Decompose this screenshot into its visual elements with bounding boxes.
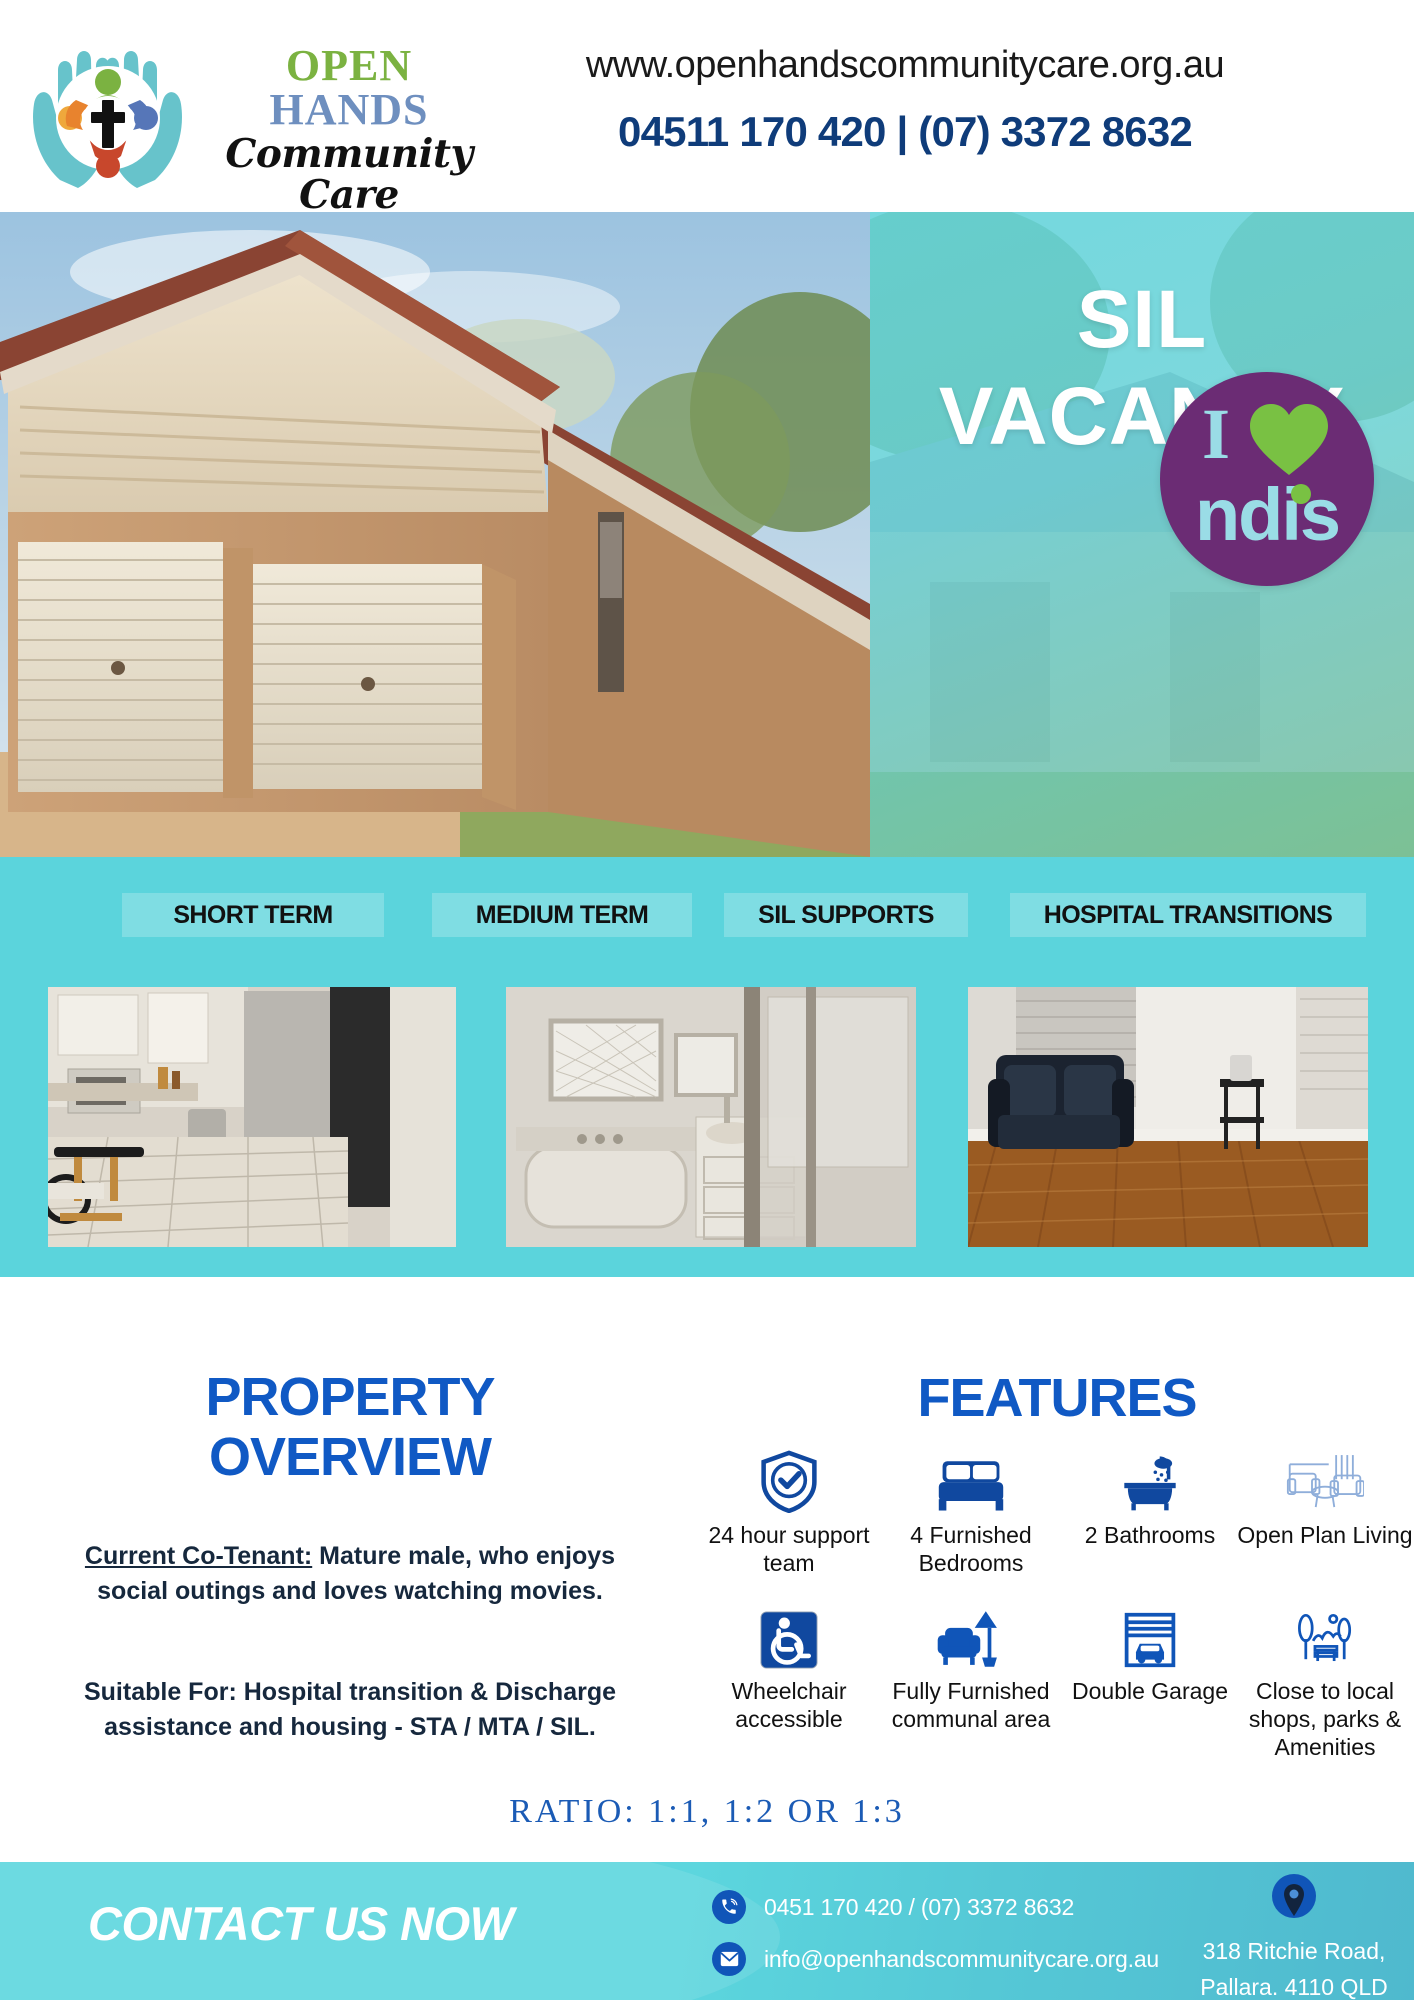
feature-close-to-amenities: Close to local shops, parks & Amenities [1236, 1603, 1414, 1761]
hero-section: SIL VACANCY Calamvale I ndis [0, 212, 1414, 857]
category-sil-supports: SIL SUPPORTS [724, 893, 968, 937]
hero-title-line1: SIL [870, 272, 1414, 369]
envelope-icon [712, 1942, 746, 1976]
armchair-lamp-icon [934, 1603, 1008, 1669]
ndis-letter-i: I [1202, 398, 1230, 470]
property-overview-title: PROPERTY OVERVIEW [70, 1367, 630, 1488]
park-bench-icon [1293, 1603, 1357, 1669]
location-pin-icon [1270, 1874, 1318, 1932]
brand-open-hands: OPEN HANDS [204, 44, 494, 132]
brand-logo: OPEN HANDS Community Care Life Abundantl… [14, 12, 494, 202]
header-website: www.openhandscommunitycare.org.au [500, 44, 1310, 87]
feature-label: Double Garage [1072, 1677, 1228, 1705]
feature-open-plan-living: Open Plan Living [1236, 1447, 1414, 1577]
co-tenant-paragraph: Current Co-Tenant: Mature male, who enjo… [70, 1539, 630, 1608]
open-hands-logo-icon [20, 30, 195, 190]
house-exterior-photo [0, 212, 870, 857]
brand-wordmark: OPEN HANDS Community Care Life Abundantl… [204, 44, 494, 236]
footer-address-line1: 318 Ritchie Road, [1184, 1934, 1404, 1970]
feature-label: Open Plan Living [1237, 1521, 1412, 1549]
suitable-for-paragraph: Suitable For: Hospital transition & Disc… [70, 1675, 630, 1744]
page-header: OPEN HANDS Community Care Life Abundantl… [0, 0, 1414, 212]
feature-24-hour-support: 24 hour support team [700, 1447, 878, 1577]
features-row-1: 24 hour support team 4 Furnished Bedroom… [700, 1447, 1414, 1577]
details-section: PROPERTY OVERVIEW Current Co-Tenant: Mat… [0, 1277, 1414, 1862]
shield-check-icon [760, 1447, 818, 1513]
footer-email-text: info@openhandscommunitycare.org.au [764, 1946, 1159, 1973]
features-grid: 24 hour support team 4 Furnished Bedroom… [700, 1447, 1414, 1761]
ratio-text: RATIO: 1:1, 1:2 OR 1:3 [0, 1793, 1414, 1831]
property-overview-title-line2: OVERVIEW [70, 1427, 630, 1487]
feature-furnished-communal-area: Fully Furnished communal area [878, 1603, 1064, 1761]
feature-furnished-bedrooms: 4 Furnished Bedrooms [878, 1447, 1064, 1577]
feature-label: 24 hour support team [700, 1521, 878, 1577]
footer-phone-row[interactable]: 0451 170 420 / (07) 3372 8632 [712, 1890, 1074, 1924]
feature-label: Wheelchair accessible [700, 1677, 878, 1733]
kitchen-hallway-photo [48, 987, 456, 1247]
footer-email-row[interactable]: info@openhandscommunitycare.org.au [712, 1942, 1159, 1976]
wheelchair-icon [760, 1603, 818, 1669]
ndis-badge: I ndis [1160, 372, 1374, 586]
feature-label: Fully Furnished communal area [878, 1677, 1064, 1733]
heart-icon [1248, 402, 1330, 478]
category-hospital-transitions: HOSPITAL TRANSITIONS [1010, 893, 1366, 937]
garage-car-icon [1121, 1603, 1179, 1669]
brand-community-care: Community Care [204, 134, 494, 216]
feature-label: 2 Bathrooms [1085, 1521, 1215, 1549]
header-phone-numbers: 04511 170 420 | (07) 3372 8632 [500, 108, 1310, 156]
feature-label: 4 Furnished Bedrooms [878, 1521, 1064, 1577]
sofa-room-icon [1286, 1447, 1364, 1513]
footer-address: 318 Ritchie Road, Pallara. 4110 QLD [1184, 1874, 1404, 2005]
ndis-wordmark: ndis [1160, 478, 1374, 552]
brand-word-hands: HANDS [269, 85, 428, 134]
contact-us-now-heading: CONTACT US NOW [88, 1896, 514, 1951]
feature-bathrooms: 2 Bathrooms [1064, 1447, 1236, 1577]
feature-double-garage: Double Garage [1064, 1603, 1236, 1761]
feature-wheelchair-accessible: Wheelchair accessible [700, 1603, 878, 1761]
service-categories-band: SHORT TERM MEDIUM TERM SIL SUPPORTS HOSP… [0, 857, 1414, 1277]
brand-word-open: OPEN [286, 41, 412, 90]
phone-icon [712, 1890, 746, 1924]
features-row-2: Wheelchair accessible [700, 1603, 1414, 1761]
ndis-green-dot [1291, 484, 1311, 504]
co-tenant-label: Current Co-Tenant: [85, 1542, 312, 1570]
feature-label: Close to local shops, parks & Amenities [1236, 1677, 1414, 1761]
features-title: FEATURES [700, 1367, 1414, 1429]
category-medium-term: MEDIUM TERM [432, 893, 692, 937]
living-room-photo [968, 987, 1368, 1247]
bathtub-shower-icon [1119, 1447, 1181, 1513]
bed-icon [935, 1447, 1007, 1513]
bathroom-photo [506, 987, 916, 1247]
footer-phone-text: 0451 170 420 / (07) 3372 8632 [764, 1894, 1074, 1921]
category-short-term: SHORT TERM [122, 893, 384, 937]
property-overview-title-line1: PROPERTY [70, 1367, 630, 1427]
